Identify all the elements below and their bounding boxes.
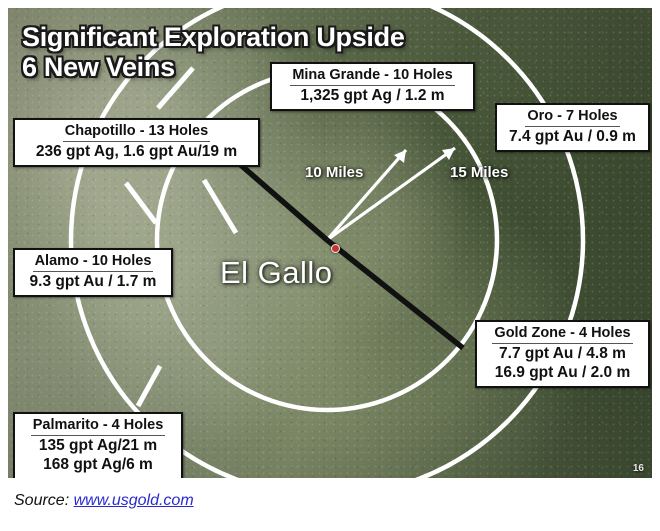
callout-oro[interactable]: Oro - 7 Holes 7.4 gpt Au / 0.9 m (495, 103, 650, 152)
title-line-2: 6 New Veins (22, 52, 175, 82)
leader-line-palmarito (138, 366, 160, 406)
callout-gold-zone-line-1: 7.7 gpt Au / 4.8 m (484, 344, 641, 363)
page-number: 16 (633, 463, 644, 474)
callout-palmarito-header: Palmarito - 4 Holes (31, 416, 166, 436)
ring-label-10-miles: 10 Miles (305, 164, 363, 181)
callout-palmarito[interactable]: Palmarito - 4 Holes 135 gpt Ag/21 m 168 … (13, 412, 183, 478)
callout-palmarito-line-2: 168 gpt Ag/6 m (22, 455, 174, 474)
satellite-map: Significant Exploration Upside 6 New Vei… (8, 8, 652, 478)
callout-chapotillo-header: Chapotillo - 13 Holes (63, 122, 210, 142)
slide-container: Significant Exploration Upside 6 New Vei… (0, 0, 660, 531)
source-footer: Source: www.usgold.com (14, 492, 194, 510)
callout-alamo[interactable]: Alamo - 10 Holes 9.3 gpt Au / 1.7 m (13, 248, 173, 297)
callout-gold-zone-header: Gold Zone - 4 Holes (492, 324, 632, 344)
callout-gold-zone-line-2: 16.9 gpt Au / 2.0 m (484, 363, 641, 382)
arrow-15-miles (327, 148, 455, 240)
ring-label-15-miles: 15 Miles (450, 164, 508, 181)
source-prefix: Source: (14, 492, 69, 509)
callout-chapotillo[interactable]: Chapotillo - 13 Holes 236 gpt Ag, 1.6 gp… (13, 118, 260, 167)
callout-alamo-header: Alamo - 10 Holes (33, 252, 154, 272)
center-place-label: El Gallo (220, 255, 333, 291)
callout-mina-grande-header: Mina Grande - 10 Holes (290, 66, 454, 86)
leader-line-gold-zone (327, 240, 463, 348)
callout-oro-header: Oro - 7 Holes (525, 107, 619, 127)
callout-oro-line-1: 7.4 gpt Au / 0.9 m (504, 127, 641, 146)
center-marker-dot (331, 244, 340, 253)
source-link[interactable]: www.usgold.com (74, 492, 194, 509)
callout-gold-zone[interactable]: Gold Zone - 4 Holes 7.7 gpt Au / 4.8 m 1… (475, 320, 650, 388)
leader-line-chapotillo-lower (126, 183, 156, 223)
callout-mina-grande[interactable]: Mina Grande - 10 Holes 1,325 gpt Ag / 1.… (270, 62, 475, 111)
callout-mina-grande-line-1: 1,325 gpt Ag / 1.2 m (279, 86, 466, 105)
ring-arrows (327, 148, 455, 240)
callout-chapotillo-line-1: 236 gpt Ag, 1.6 gpt Au/19 m (22, 142, 251, 161)
callout-palmarito-line-1: 135 gpt Ag/21 m (22, 436, 174, 455)
leader-line-center-upper (204, 180, 236, 233)
callout-alamo-line-1: 9.3 gpt Au / 1.7 m (22, 272, 164, 291)
title-line-1: Significant Exploration Upside (22, 22, 405, 52)
